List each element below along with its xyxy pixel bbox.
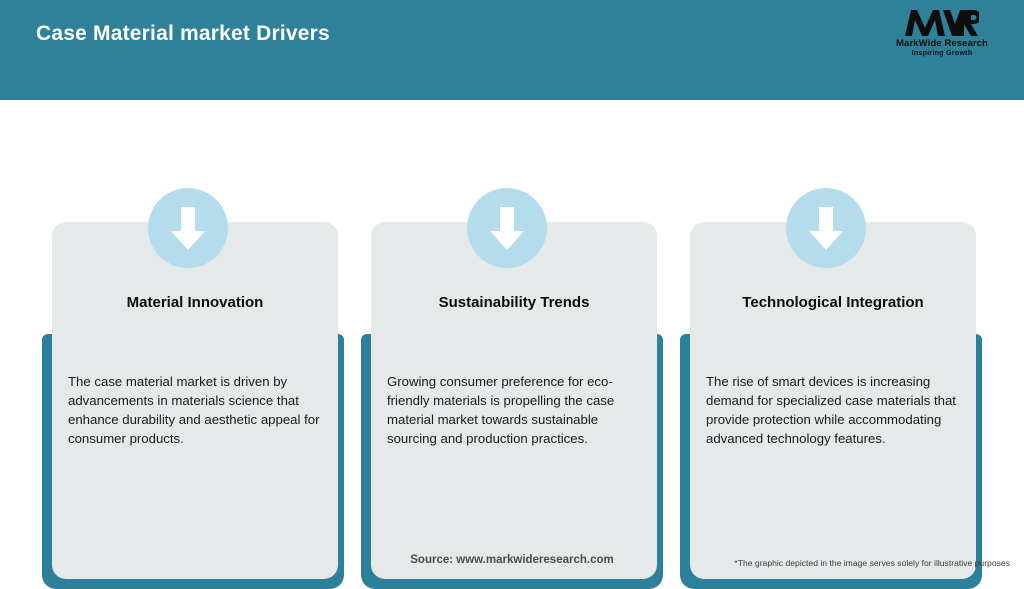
card-title: Sustainability Trends [373, 294, 655, 311]
mwr-monogram-icon [882, 8, 1002, 38]
card-title: Material Innovation [54, 294, 336, 311]
card-body-text: The case material market is driven by ad… [68, 372, 324, 448]
illustrative-disclaimer: *The graphic depicted in the image serve… [734, 558, 1010, 568]
arrow-down-icon [148, 188, 228, 268]
driver-card[interactable]: Sustainability Trends Growing consumer p… [361, 144, 673, 546]
driver-card[interactable]: Technological Integration The rise of sm… [680, 144, 992, 546]
markwide-research-logo: MarkWide Research Inspiring Growth [882, 8, 1002, 64]
logo-tagline: Inspiring Growth [882, 49, 1002, 58]
arrow-down-icon [467, 188, 547, 268]
logo-company-name: MarkWide Research [882, 38, 1002, 49]
driver-card[interactable]: Material Innovation The case material ma… [42, 144, 354, 546]
page-title: Case Material market Drivers [36, 22, 330, 46]
page-header: Case Material market Drivers MarkWide Re… [0, 0, 1024, 100]
card-body-text: Growing consumer preference for eco-frie… [387, 372, 643, 448]
card-body-text: The rise of smart devices is increasing … [706, 372, 962, 448]
arrow-down-icon [786, 188, 866, 268]
card-title: Technological Integration [692, 294, 974, 311]
drivers-card-row: Material Innovation The case material ma… [0, 100, 1024, 540]
